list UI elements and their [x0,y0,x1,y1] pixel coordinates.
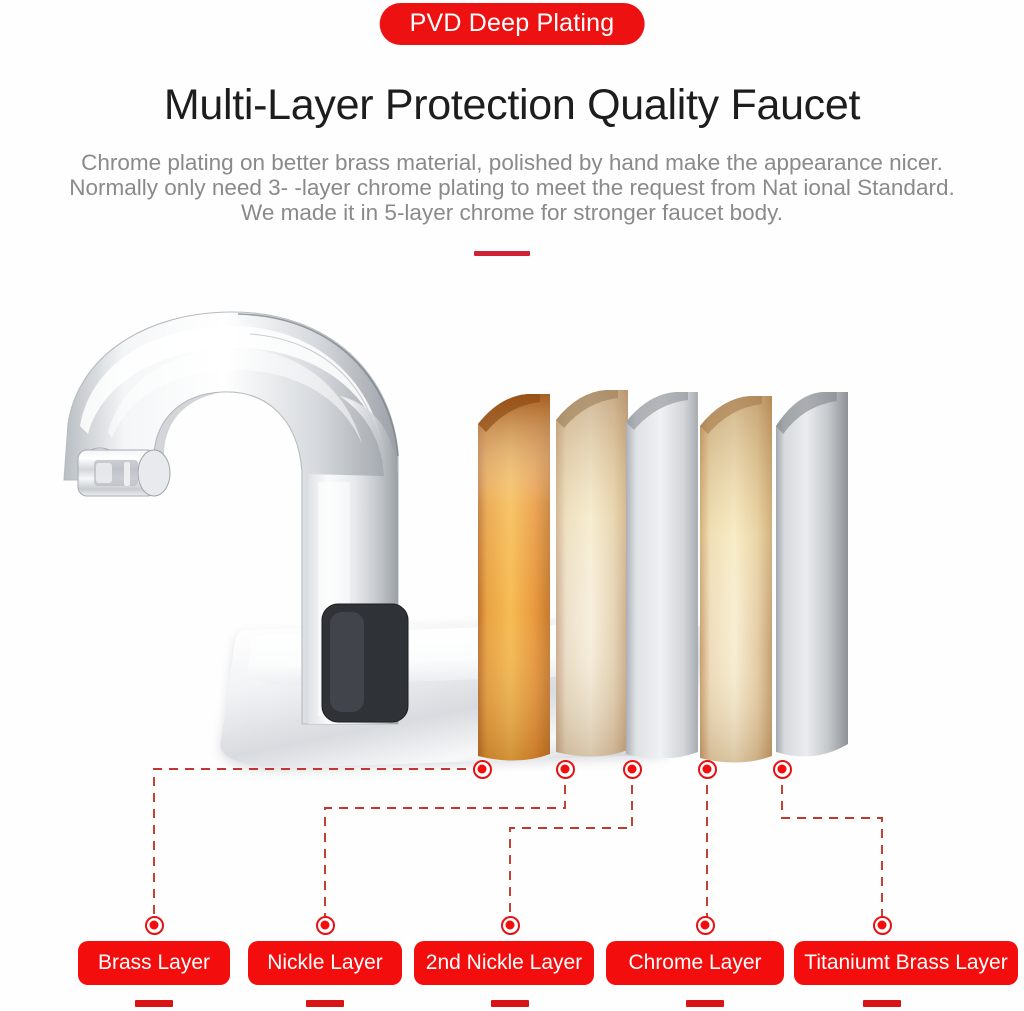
faucet-aerator [78,448,170,496]
faucet-sensor-window [322,604,408,722]
page-title: Multi-Layer Protection Quality Faucet [0,81,1024,130]
legend-pill-label: Nickle Layer [267,951,383,975]
legend-tick-4 [686,1000,724,1007]
legend-marker-dot-1[interactable] [145,916,164,935]
legend-marker-dot-4[interactable] [696,916,715,935]
layer-panel-1 [478,394,550,766]
legend-pill-label: Chrome Layer [628,951,761,975]
legend-pill-label: Brass Layer [98,951,210,975]
layer-marker-dot-2[interactable] [556,760,575,779]
legend-pill-label: 2nd Nickle Layer [426,951,582,975]
legend-pill-titaniumt-brass-layer[interactable]: Titaniumt Brass Layer [794,941,1018,985]
legend-marker-dot-3[interactable] [501,916,520,935]
legend-tick-1 [135,1000,173,1007]
legend-pill-label: Titaniumt Brass Layer [804,951,1007,975]
description-line-3: We made it in 5-layer chrome for stronge… [0,200,1024,225]
legend-pill-nickle-layer[interactable]: Nickle Layer [248,941,402,985]
layer-marker-dot-5[interactable] [773,760,792,779]
layer-panel-4 [700,396,772,768]
layer-marker-dot-4[interactable] [698,760,717,779]
faucet-spout [50,304,480,724]
legend-tick-3 [491,1000,529,1007]
layer-panel-3 [626,392,698,764]
section-divider [474,251,530,256]
legend-marker-dot-2[interactable] [316,916,335,935]
layer-marker-dot-3[interactable] [623,760,642,779]
description-paragraph: Chrome plating on better brass material,… [0,150,1024,225]
legend-tick-5 [863,1000,901,1007]
legend-pill-brass-layer[interactable]: Brass Layer [78,941,230,985]
legend-pill-2nd-nickle-layer[interactable]: 2nd Nickle Layer [414,941,594,985]
description-line-2: Normally only need 3- -layer chrome plat… [0,175,1024,200]
faucet-illustration [0,286,1024,826]
layer-panel-5 [776,392,848,764]
infographic-page: PVD Deep Plating Multi-Layer Protection … [0,0,1024,1011]
layer-panel-2 [556,390,628,762]
description-line-1: Chrome plating on better brass material,… [0,150,1024,175]
legend-marker-dot-5[interactable] [873,916,892,935]
layer-marker-dot-1[interactable] [473,760,492,779]
legend-tick-2 [306,1000,344,1007]
pvd-badge: PVD Deep Plating [380,3,645,45]
legend-pill-chrome-layer[interactable]: Chrome Layer [606,941,784,985]
